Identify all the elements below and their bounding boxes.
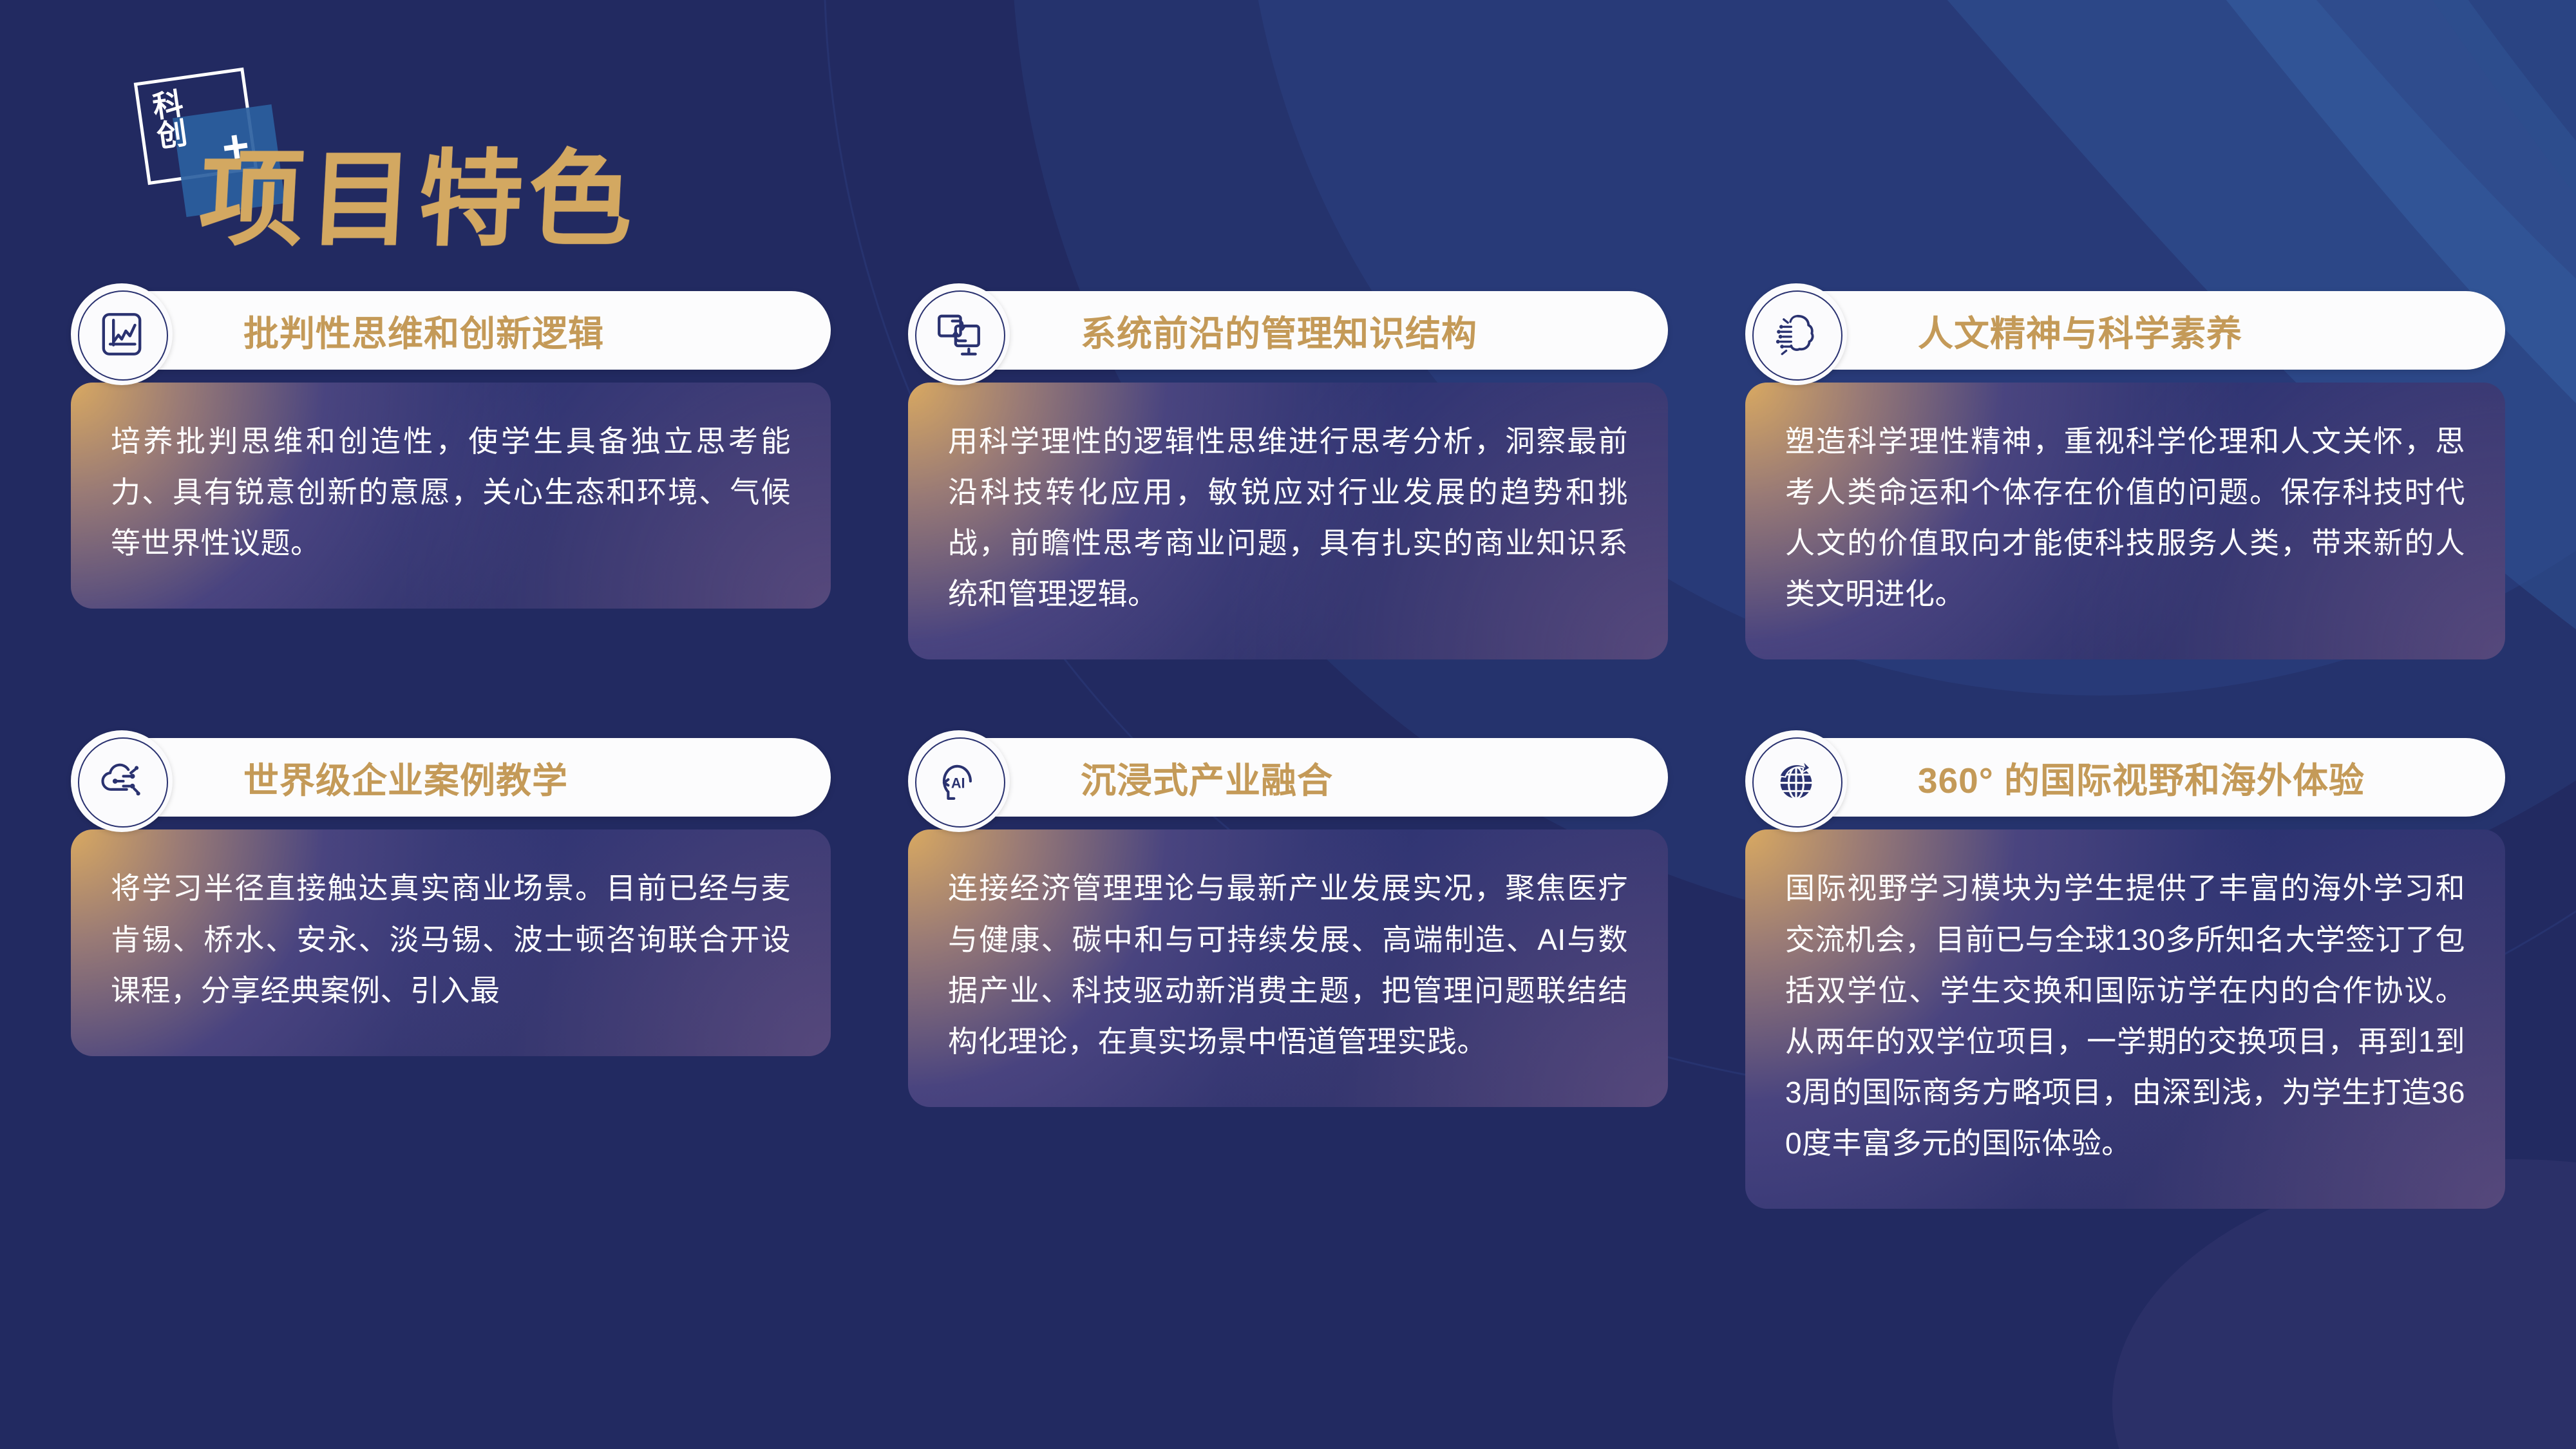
ai-head-icon: AI xyxy=(933,755,985,808)
card-body: 塑造科学理性精神，重视科学伦理和人文关怀，思考人类命运和个体存在价值的问题。保存… xyxy=(1745,383,2505,659)
card-header: 世界级企业案例教学 xyxy=(71,730,831,833)
card-body: 培养批判思维和创造性，使学生具备独立思考能力、具有锐意创新的意愿，关心生态和环境… xyxy=(71,383,831,609)
card-body-text: 培养批判思维和创造性，使学生具备独立思考能力、具有锐意创新的意愿，关心生态和环境… xyxy=(111,416,791,569)
feature-card: 360° 的国际视野和海外体验 国际视野学习模块为学生提供了丰富的海外学习和交流… xyxy=(1745,730,2505,1209)
card-body: 用科学理性的逻辑性思维进行思考分析，洞察最前沿科技转化应用，敏锐应对行业发展的趋… xyxy=(908,383,1668,659)
card-body: 国际视野学习模块为学生提供了丰富的海外学习和交流机会，目前已与全球130多所知名… xyxy=(1745,829,2505,1209)
card-header: 人文精神与科学素养 xyxy=(1745,283,2505,386)
card-body-text: 连接经济管理理论与最新产业发展实况，聚焦医疗与健康、碳中和与可持续发展、高端制造… xyxy=(948,863,1628,1066)
card-title: 批判性思维和创新逻辑 xyxy=(243,291,604,370)
line-chart-icon xyxy=(95,308,148,361)
card-title: 世界级企业案例教学 xyxy=(243,738,568,817)
page-title: 项目特色 xyxy=(197,148,640,252)
card-icon-badge xyxy=(908,283,1010,385)
features-grid: 批判性思维和创新逻辑 培养批判思维和创造性，使学生具备独立思考能力、具有锐意创新… xyxy=(71,283,2518,1209)
card-body-text: 将学习半径直接触达真实商业场景。目前已经与麦肯锡、桥水、安永、淡马锡、波士顿咨询… xyxy=(111,863,791,1016)
card-icon-badge xyxy=(1745,730,1847,832)
circuit-brain-icon xyxy=(1770,308,1823,361)
feature-card: 系统前沿的管理知识结构 用科学理性的逻辑性思维进行思考分析，洞察最前沿科技转化应… xyxy=(908,283,1668,659)
card-title: 人文精神与科学素养 xyxy=(1918,291,2242,370)
card-title: 360° 的国际视野和海外体验 xyxy=(1918,738,2365,817)
feature-card: AI 沉浸式产业融合 连接经济管理理论与最新产业发展实况，聚焦医疗与健康、碳中和… xyxy=(908,730,1668,1209)
card-body: 将学习半径直接触达真实商业场景。目前已经与麦肯锡、桥水、安永、淡马锡、波士顿咨询… xyxy=(71,829,831,1056)
card-header: 系统前沿的管理知识结构 xyxy=(908,283,1668,386)
feature-card: 批判性思维和创新逻辑 培养批判思维和创造性，使学生具备独立思考能力、具有锐意创新… xyxy=(71,283,831,659)
card-icon-badge xyxy=(1745,283,1847,385)
devices-sync-icon xyxy=(933,308,985,361)
card-header: 360° 的国际视野和海外体验 xyxy=(1745,730,2505,833)
card-icon-badge xyxy=(71,283,173,385)
globe-arrow-icon xyxy=(1770,755,1823,808)
feature-card: 世界级企业案例教学 将学习半径直接触达真实商业场景。目前已经与麦肯锡、桥水、安永… xyxy=(71,730,831,1209)
card-icon-badge xyxy=(71,730,173,832)
card-header: AI 沉浸式产业融合 xyxy=(908,730,1668,833)
card-body-text: 国际视野学习模块为学生提供了丰富的海外学习和交流机会，目前已与全球130多所知名… xyxy=(1785,863,2465,1169)
card-body-text: 塑造科学理性精神，重视科学伦理和人文关怀，思考人类命运和个体存在价值的问题。保存… xyxy=(1785,416,2465,620)
card-body: 连接经济管理理论与最新产业发展实况，聚焦医疗与健康、碳中和与可持续发展、高端制造… xyxy=(908,829,1668,1106)
card-body-text: 用科学理性的逻辑性思维进行思考分析，洞察最前沿科技转化应用，敏锐应对行业发展的趋… xyxy=(948,416,1628,620)
svg-text:AI: AI xyxy=(951,775,965,791)
card-title: 系统前沿的管理知识结构 xyxy=(1081,291,1477,370)
cloud-network-icon xyxy=(95,755,148,808)
card-title: 沉浸式产业融合 xyxy=(1081,738,1333,817)
card-header: 批判性思维和创新逻辑 xyxy=(71,283,831,386)
feature-card: 人文精神与科学素养 塑造科学理性精神，重视科学伦理和人文关怀，思考人类命运和个体… xyxy=(1745,283,2505,659)
card-icon-badge: AI xyxy=(908,730,1010,832)
